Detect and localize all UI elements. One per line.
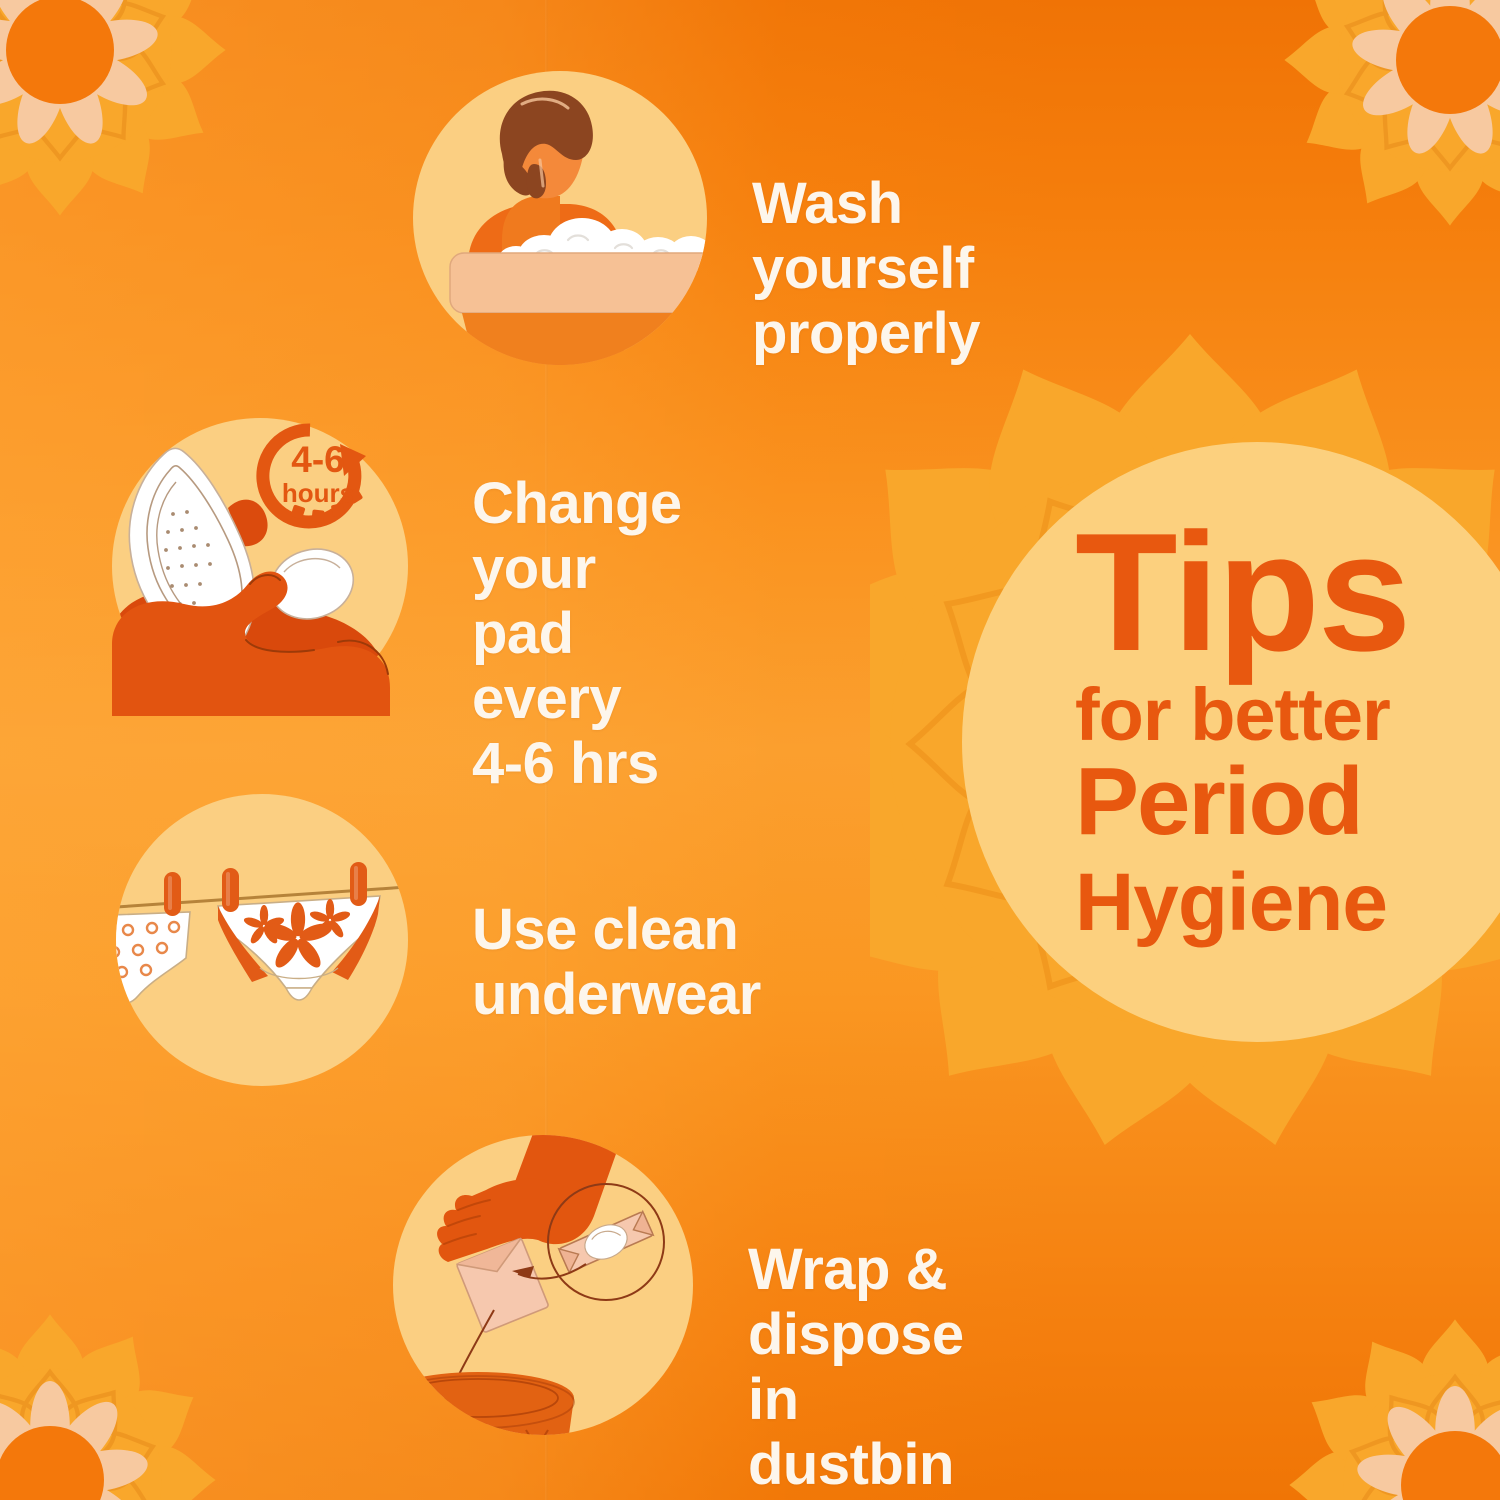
- tip2-line2: your pad: [472, 537, 682, 667]
- title-line-for: for better: [1075, 679, 1495, 752]
- tip4-line2: in dustbin only: [748, 1368, 964, 1500]
- title-line-hygiene: Hygiene: [1075, 863, 1495, 943]
- tip1-line2: properly: [752, 302, 980, 367]
- title-line-tips: Tips: [1075, 510, 1495, 675]
- page-title: Tips for better Period Hygiene: [1075, 510, 1495, 944]
- title-line-period: Period: [1075, 755, 1495, 849]
- mandala-top-left-icon: [0, 0, 240, 230]
- tip1-line1: Wash yourself: [752, 172, 980, 302]
- tip-label-change-pad: Change your pad every 4-6 hrs: [472, 472, 682, 797]
- tip3-line2: underwear: [472, 963, 761, 1028]
- tip2-line1: Change: [472, 472, 682, 537]
- sanitary-pad-in-hand-icon: 4-6 hours: [100, 396, 420, 716]
- badge-hours-unit: hours: [282, 478, 354, 508]
- woman-bathing-icon: [410, 68, 710, 368]
- tip-label-underwear: Use clean underwear: [472, 898, 761, 1028]
- tip4-line1: Wrap & dispose: [748, 1238, 964, 1368]
- underwear-on-clothesline-icon: [112, 790, 412, 1090]
- tip-label-dispose: Wrap & dispose in dustbin only: [748, 1238, 964, 1500]
- mandala-bottom-right-icon: [1275, 1305, 1500, 1500]
- mandala-bottom-left-icon: [0, 1300, 230, 1500]
- wrap-and-dispose-in-dustbin-icon: [388, 1130, 698, 1440]
- badge-hours-range: 4-6: [291, 439, 344, 480]
- mandala-top-right-icon: [1270, 0, 1500, 240]
- tip3-line1: Use clean: [472, 898, 761, 963]
- tip-label-wash: Wash yourself properly: [752, 172, 980, 367]
- poster-canvas: Tips for better Period Hygiene: [0, 0, 1500, 1500]
- tip2-line3: every 4-6 hrs: [472, 667, 682, 797]
